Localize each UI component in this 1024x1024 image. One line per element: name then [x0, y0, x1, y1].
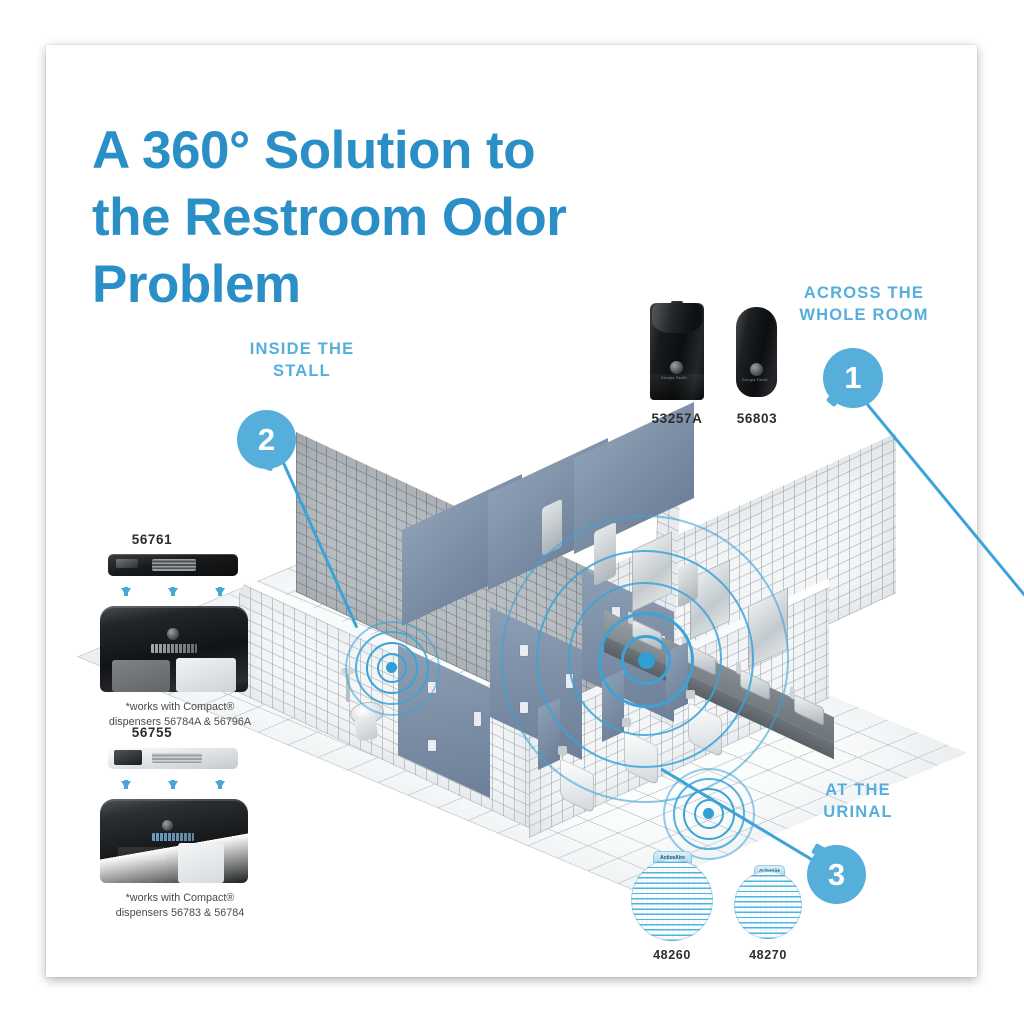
gp-logo-icon: [750, 363, 763, 376]
dispenser-window-left: [112, 660, 170, 692]
product-code-56803: 56803: [707, 411, 807, 426]
down-arrow-icon: [168, 781, 178, 789]
urinal-screen-48260: [631, 859, 713, 941]
product-code-48270: 48270: [718, 948, 818, 962]
top-module-vent: [152, 559, 196, 571]
urinal-screen-48270: [734, 871, 802, 939]
section-label-line-1: AT THE: [825, 781, 891, 799]
toilet-base: [354, 716, 378, 741]
down-arrow-icon: [168, 588, 178, 596]
gp-logo-icon: [167, 628, 179, 640]
section-label-whole-room: ACROSS THE WHOLE ROOM: [764, 283, 964, 327]
product-48270-group: ActiveAire 48270: [724, 865, 834, 975]
note-line-2: dispensers 56783 & 56784: [116, 907, 244, 919]
section-label-line-2: STALL: [273, 362, 331, 380]
product-code-56761: 56761: [114, 532, 190, 547]
dispenser-label-plate: [118, 847, 166, 861]
note-line-1: *works with Compact®: [126, 892, 235, 904]
product-code-48260: 48260: [622, 948, 722, 962]
note-line-1: *works with Compact®: [126, 701, 235, 713]
product-note-56755: *works with Compact® dispensers 56783 & …: [88, 891, 272, 922]
dispenser-body: [736, 307, 777, 397]
product-56755-group: 56755 *works with Compact® dispensers 56…: [90, 725, 270, 915]
title-line-1: A 360° Solution to: [92, 117, 732, 184]
down-arrow-icon: [215, 781, 225, 789]
badge-1-number: 1: [844, 360, 861, 396]
down-arrow-icon: [121, 781, 131, 789]
gp-logo-icon: [162, 820, 173, 831]
stall-latch: [428, 740, 436, 751]
compact-wordmark: [151, 644, 197, 653]
dispenser-dome: [652, 303, 702, 333]
down-arrow-icon: [121, 588, 131, 596]
compact-dispenser-56755: [100, 799, 248, 883]
stall-latch: [474, 712, 481, 726]
dispenser-window-right: [176, 658, 236, 692]
product-53257A-image: Georgia-Pacific: [650, 303, 704, 400]
page-title: A 360° Solution to the Restroom Odor Pro…: [92, 117, 732, 319]
gp-wordmark: Georgia-Pacific: [661, 376, 687, 380]
compact-wordmark: [152, 833, 194, 841]
top-module-window: [114, 750, 142, 765]
gp-logo-icon: [670, 361, 683, 374]
down-arrow-icon: [215, 588, 225, 596]
section-label-at-urinal: AT THE URINAL: [768, 780, 948, 824]
product-56803-image: Georgia-Pacific: [736, 307, 777, 397]
product-48260-group: ActiveAire 48260: [622, 851, 732, 961]
faucet: [790, 686, 795, 700]
product-56761-group: 56761 *works with Compact® dispensers 56…: [90, 532, 270, 722]
top-module-window: [116, 559, 138, 568]
top-module-vent: [152, 753, 202, 763]
section-label-line-1: ACROSS THE: [804, 284, 924, 302]
poster-card: A 360° Solution to the Restroom Odor Pro…: [46, 45, 977, 977]
title-line-2: the Restroom Odor: [92, 184, 732, 251]
product-code-56755: 56755: [114, 725, 190, 740]
gp-wordmark: Georgia-Pacific: [742, 378, 768, 382]
section-label-line-1: INSIDE THE: [250, 340, 355, 358]
section-label-line-2: WHOLE ROOM: [799, 306, 928, 324]
section-label-inside-stall: INSIDE THE STALL: [212, 339, 392, 383]
dispenser-window-right: [178, 843, 224, 883]
section-label-line-2: URINAL: [823, 803, 893, 821]
badge-2-number: 2: [258, 422, 275, 458]
title-line-3: Problem: [92, 251, 732, 318]
